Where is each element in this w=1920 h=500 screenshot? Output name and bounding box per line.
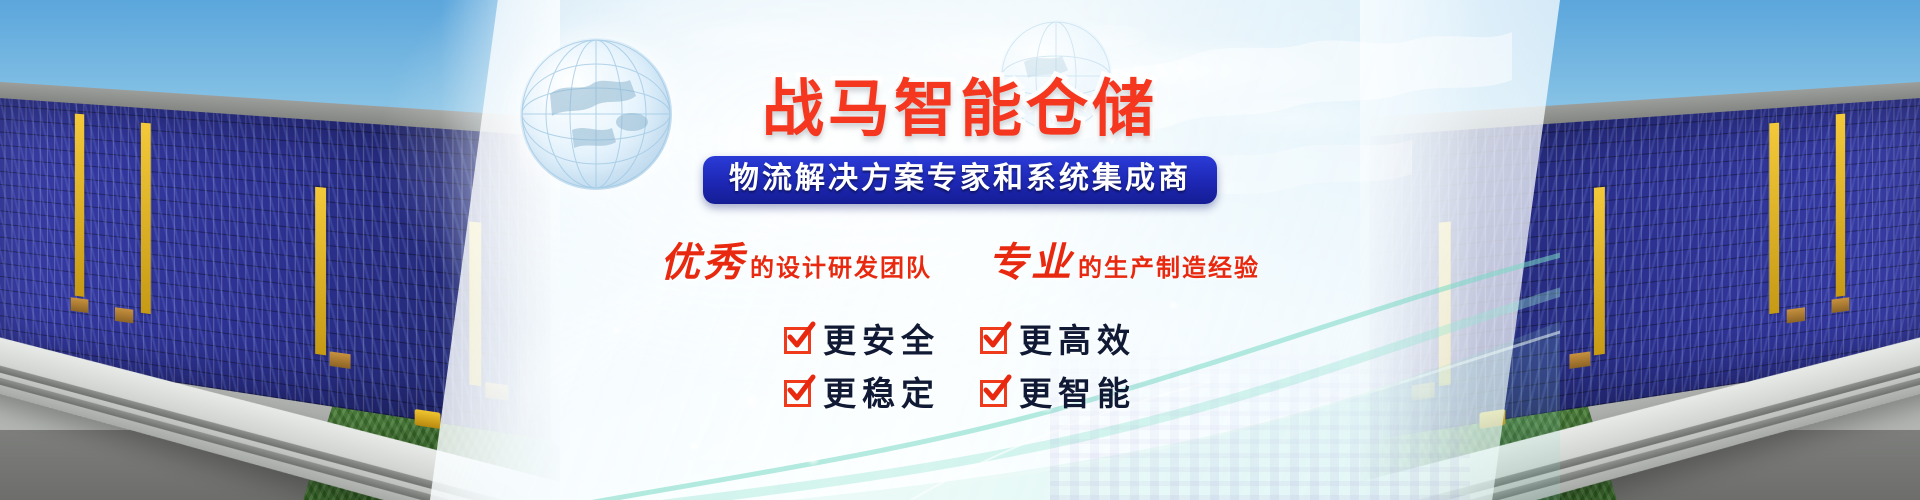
feature-list: 更安全 更高效 更稳定 更智能 bbox=[784, 324, 1136, 410]
subtitle-badge: 物流解决方案专家和系统集成商 bbox=[703, 156, 1217, 204]
checkbox-checked-icon bbox=[980, 380, 1007, 407]
page-title: 战马智能仓储 bbox=[762, 78, 1158, 140]
tagline-rest: 的设计研发团队 bbox=[750, 248, 932, 283]
feature-label: 更智能 bbox=[1019, 377, 1136, 410]
tagline-emphasis: 专业 bbox=[988, 230, 1074, 288]
feature-label: 更稳定 bbox=[823, 377, 940, 410]
tagline-row: 优秀 的设计研发团队 专业 的生产制造经验 bbox=[660, 230, 1260, 288]
banner-content: 战马智能仓储 物流解决方案专家和系统集成商 优秀 的设计研发团队 专业 的生产制… bbox=[0, 0, 1920, 500]
tagline-item-2: 专业 的生产制造经验 bbox=[988, 230, 1260, 288]
tagline-item-1: 优秀 的设计研发团队 bbox=[660, 230, 932, 288]
checkbox-checked-icon bbox=[980, 327, 1007, 354]
feature-item-intelligent: 更智能 bbox=[980, 377, 1136, 410]
checkbox-checked-icon bbox=[784, 327, 811, 354]
subtitle-text: 物流解决方案专家和系统集成商 bbox=[729, 163, 1191, 195]
feature-item-efficient: 更高效 bbox=[980, 324, 1136, 357]
checkbox-checked-icon bbox=[784, 380, 811, 407]
promo-banner: 战马智能仓储 物流解决方案专家和系统集成商 优秀 的设计研发团队 专业 的生产制… bbox=[0, 0, 1920, 500]
tagline-emphasis: 优秀 bbox=[660, 230, 746, 288]
feature-label: 更安全 bbox=[823, 324, 940, 357]
tagline-rest: 的生产制造经验 bbox=[1078, 248, 1260, 283]
feature-label: 更高效 bbox=[1019, 324, 1136, 357]
feature-item-safer: 更安全 bbox=[784, 324, 940, 357]
feature-item-stable: 更稳定 bbox=[784, 377, 940, 410]
